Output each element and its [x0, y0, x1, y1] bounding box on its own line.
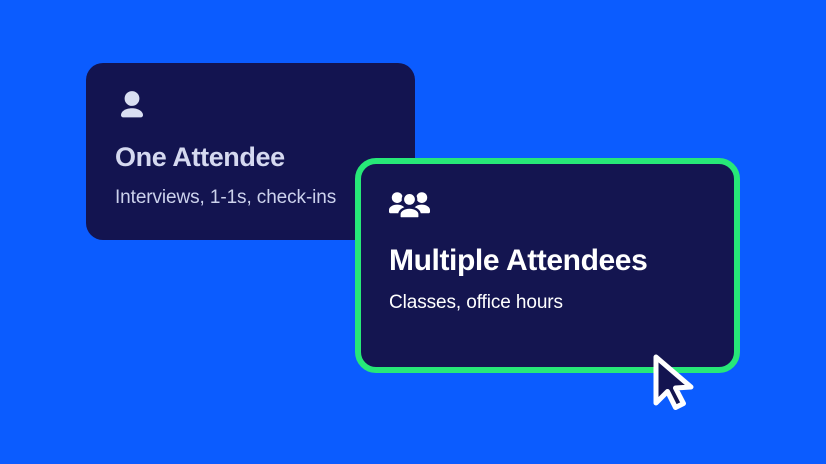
option-title-multiple-attendees: Multiple Attendees — [389, 244, 734, 278]
attendee-type-selector: One Attendee Interviews, 1-1s, check-ins… — [0, 0, 826, 464]
single-person-icon — [115, 89, 149, 123]
mouse-cursor-arrow-icon — [650, 353, 702, 415]
option-subtitle-multiple-attendees: Classes, office hours — [389, 292, 734, 314]
option-card-multiple-attendees[interactable]: Multiple Attendees Classes, office hours — [355, 158, 740, 373]
group-people-icon — [389, 189, 430, 223]
